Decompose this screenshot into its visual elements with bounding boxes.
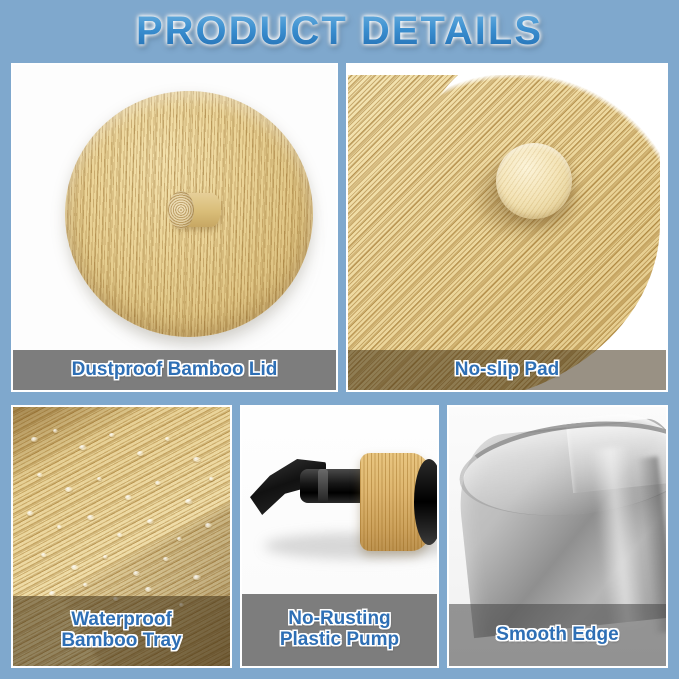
caption-bar-dustproof-bamboo-lid: Dustproof Bamboo Lid [13,350,336,390]
page-header: PRODUCT DETAILS [0,0,679,62]
pump-neck-ring [318,469,328,503]
pump-collar-opening [414,459,437,545]
panel-no-rusting-plastic-pump[interactable]: No-Rusting Plastic Pump [240,405,439,668]
no-slip-pad-circle [496,143,572,219]
caption-bar-smooth-edge: Smooth Edge [449,604,666,666]
panel-waterproof-bamboo-tray[interactable]: Waterproof Bamboo Tray [11,405,232,668]
photo-dustproof-bamboo-lid [13,65,336,390]
caption-bar-waterproof-bamboo-tray: Waterproof Bamboo Tray [13,596,230,666]
caption-bar-no-slip-pad: No-slip Pad [348,350,666,390]
panel-no-slip-pad[interactable]: No-slip Pad [346,63,668,392]
caption-label: No-slip Pad [449,360,566,381]
caption-label: Dustproof Bamboo Lid [66,360,284,381]
caption-label: Waterproof Bamboo Tray [55,610,187,651]
lid-knob-cap [168,191,194,229]
photo-no-slip-pad [348,65,666,390]
page-title: PRODUCT DETAILS [136,9,543,54]
caption-label: Smooth Edge [490,625,624,646]
panel-smooth-edge[interactable]: Smooth Edge [447,405,668,668]
panel-dustproof-bamboo-lid[interactable]: Dustproof Bamboo Lid [11,63,338,392]
caption-label: No-Rusting Plastic Pump [274,609,405,650]
caption-bar-no-rusting-plastic-pump: No-Rusting Plastic Pump [242,594,437,666]
